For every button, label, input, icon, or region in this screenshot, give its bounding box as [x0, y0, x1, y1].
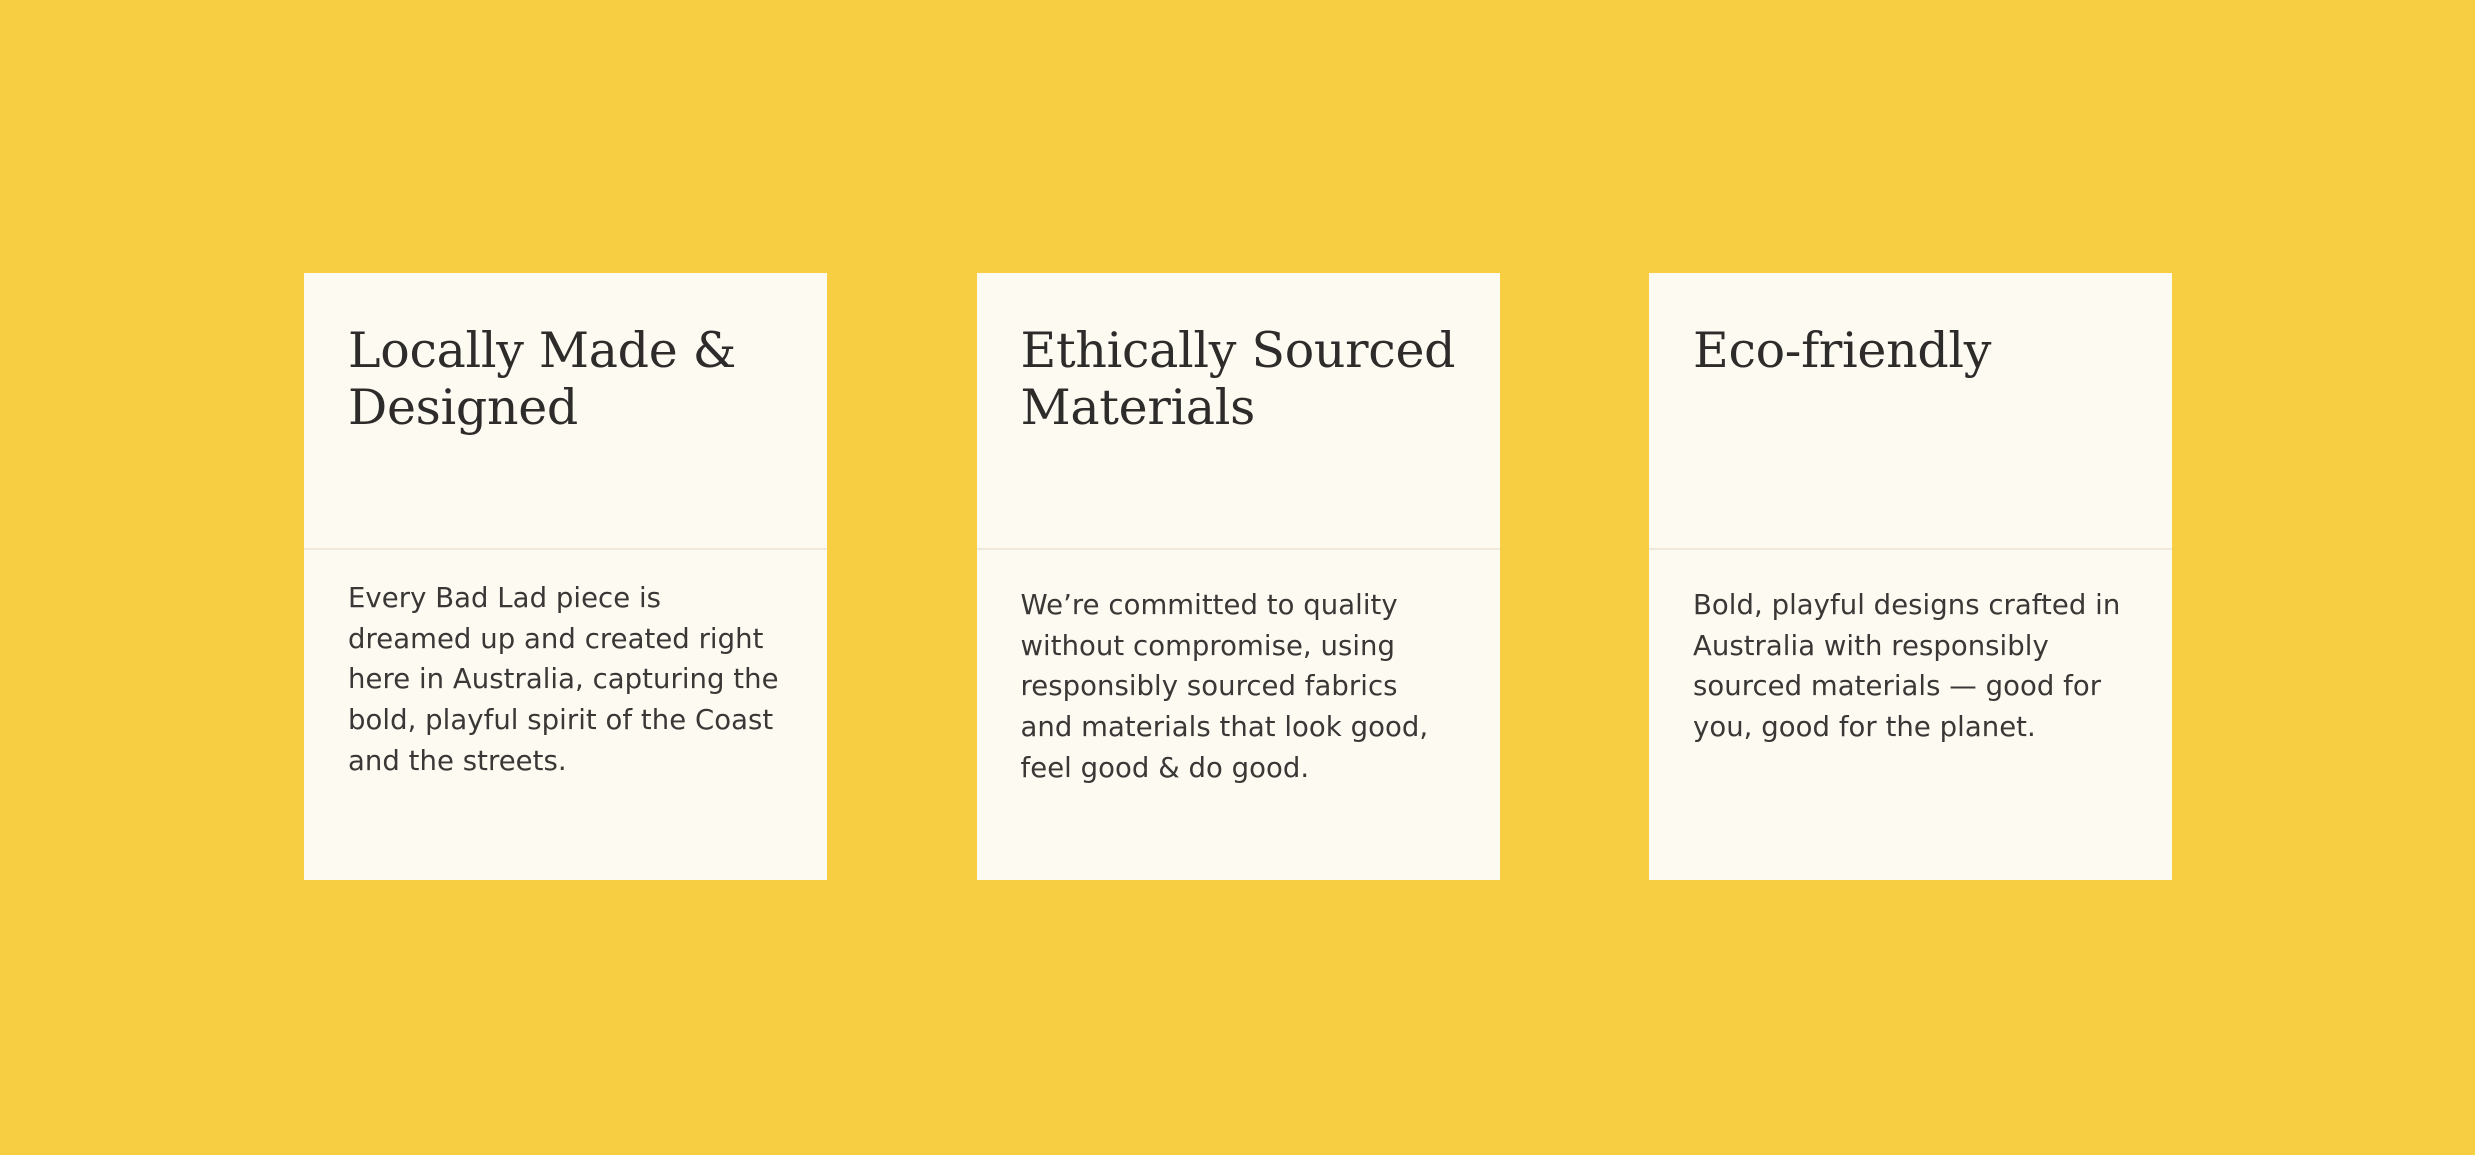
- feature-cards-row: Locally Made & Designed Every Bad Lad pi…: [304, 273, 2172, 880]
- feature-card-title: Eco-friendly: [1693, 323, 2132, 380]
- feature-card-body: Bold, playful designs crafted in Austral…: [1649, 550, 2172, 880]
- feature-card-body: We’re committed to quality without compr…: [977, 550, 1500, 880]
- feature-card-locally-made[interactable]: Locally Made & Designed Every Bad Lad pi…: [304, 273, 827, 880]
- feature-card-title: Ethically Sourced Materials: [1021, 323, 1460, 437]
- feature-card-title: Locally Made & Designed: [348, 323, 787, 437]
- feature-card-body: Every Bad Lad piece is dreamed up and cr…: [304, 550, 827, 880]
- feature-card-description: Bold, playful designs crafted in Austral…: [1693, 585, 2128, 748]
- page-root: Locally Made & Designed Every Bad Lad pi…: [0, 0, 2475, 1155]
- feature-card-header: Ethically Sourced Materials: [977, 273, 1500, 550]
- feature-card-ethically-sourced[interactable]: Ethically Sourced Materials We’re commit…: [977, 273, 1500, 880]
- feature-card-header: Eco-friendly: [1649, 273, 2172, 550]
- feature-card-description: Every Bad Lad piece is dreamed up and cr…: [348, 578, 783, 781]
- feature-card-description: We’re committed to quality without compr…: [1021, 585, 1456, 788]
- feature-card-header: Locally Made & Designed: [304, 273, 827, 550]
- feature-card-eco-friendly[interactable]: Eco-friendly Bold, playful designs craft…: [1649, 273, 2172, 880]
